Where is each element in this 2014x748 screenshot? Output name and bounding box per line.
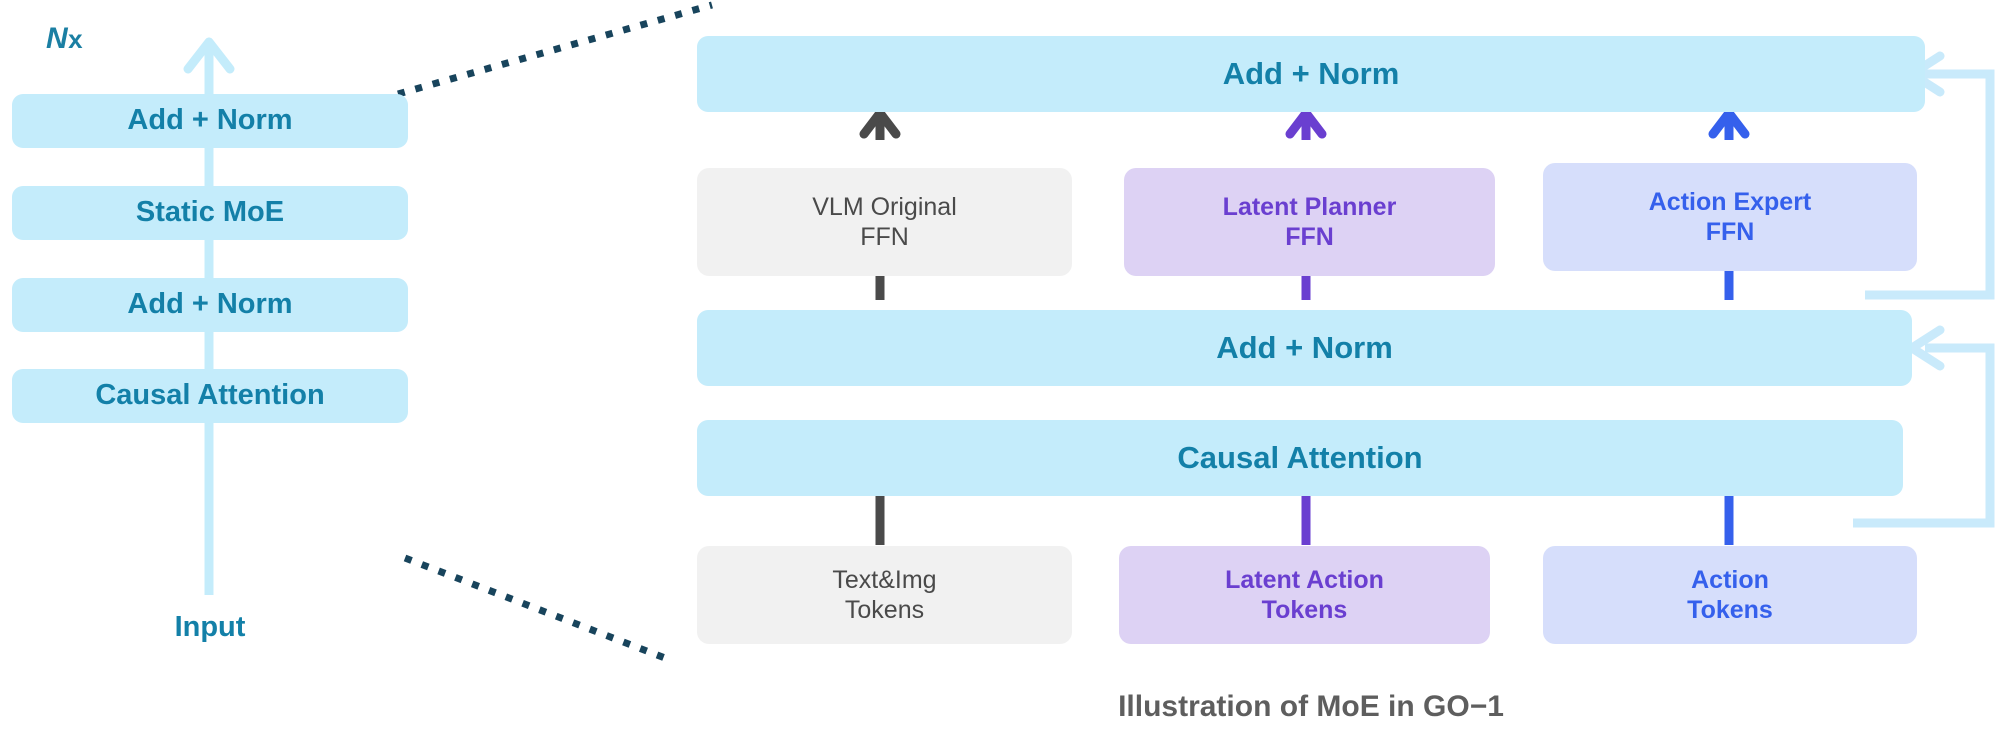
left-block-label: Static MoE bbox=[136, 195, 284, 230]
left-block-add-norm-bottom[interactable]: Add + Norm bbox=[12, 278, 408, 332]
ffn-box-line2: FFN bbox=[1706, 217, 1755, 248]
ffn-box-vlm-original[interactable]: VLM Original FFN bbox=[697, 168, 1072, 276]
ffn-box-line2: FFN bbox=[860, 222, 909, 253]
top-add-norm-bar[interactable]: Add + Norm bbox=[697, 36, 1925, 112]
ffn-box-line2: FFN bbox=[1285, 222, 1334, 253]
token-box-line2: Tokens bbox=[1262, 595, 1348, 626]
left-block-add-norm-top[interactable]: Add + Norm bbox=[12, 94, 408, 148]
left-block-static-moe[interactable]: Static MoE bbox=[12, 186, 408, 240]
ffn-box-line1: Action Expert bbox=[1649, 187, 1812, 218]
mid-add-norm-label: Add + Norm bbox=[1216, 329, 1393, 367]
token-box-line1: Action bbox=[1691, 565, 1769, 596]
token-box-line1: Text&Img bbox=[832, 565, 936, 596]
ffn-box-line1: VLM Original bbox=[812, 192, 957, 223]
left-block-label: Add + Norm bbox=[127, 103, 292, 138]
token-box-line2: Tokens bbox=[845, 595, 924, 626]
repeat-count-symbol: N bbox=[46, 22, 68, 55]
repeat-count-suffix: x bbox=[68, 24, 83, 54]
ffn-box-latent-planner[interactable]: Latent Planner FFN bbox=[1124, 168, 1495, 276]
dotted-guide-bottom bbox=[405, 558, 665, 658]
top-add-norm-label: Add + Norm bbox=[1223, 55, 1400, 93]
token-box-text-img[interactable]: Text&Img Tokens bbox=[697, 546, 1072, 644]
token-box-line2: Tokens bbox=[1687, 595, 1773, 626]
figure-caption: Illustration of MoE in GO−1 bbox=[697, 690, 1925, 724]
ffn-box-action-expert[interactable]: Action Expert FFN bbox=[1543, 163, 1917, 271]
token-box-line1: Latent Action bbox=[1225, 565, 1384, 596]
causal-attention-bar[interactable]: Causal Attention bbox=[697, 420, 1903, 496]
repeat-count-label: Nx bbox=[46, 22, 83, 56]
token-box-latent-action[interactable]: Latent Action Tokens bbox=[1119, 546, 1490, 644]
causal-attention-label: Causal Attention bbox=[1177, 439, 1422, 477]
figure-canvas: Nx Add + Norm Static MoE Add + Norm Caus… bbox=[0, 0, 2014, 748]
token-box-action[interactable]: Action Tokens bbox=[1543, 546, 1917, 644]
left-block-label: Causal Attention bbox=[95, 378, 324, 413]
dotted-guide-lines bbox=[398, 5, 712, 658]
left-block-label: Add + Norm bbox=[127, 287, 292, 322]
left-block-causal-attention[interactable]: Causal Attention bbox=[12, 369, 408, 423]
mid-add-norm-bar[interactable]: Add + Norm bbox=[697, 310, 1912, 386]
dotted-guide-top bbox=[398, 5, 712, 94]
ffn-box-line1: Latent Planner bbox=[1223, 192, 1397, 223]
left-input-label: Input bbox=[12, 611, 408, 644]
